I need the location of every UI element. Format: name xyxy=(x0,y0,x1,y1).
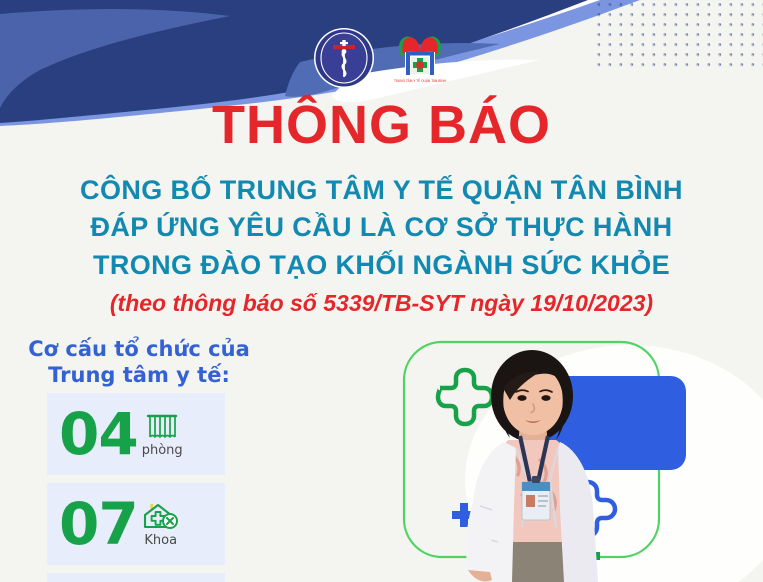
stat-card: 07 Khoa xyxy=(47,483,225,565)
stat-card: 04 phòng xyxy=(47,393,225,475)
reference-note: (theo thông báo số 5339/TB-SYT ngày 19/1… xyxy=(0,291,763,316)
logo-row: TRUNG TÂM Y TẾ QUẬN TÂN BÌNH xyxy=(0,27,763,89)
org-structure-label-line-1: Cơ cấu tổ chức của xyxy=(8,336,270,362)
subtitle-line-1: CÔNG BỐ TRUNG TÂM Y TẾ QUẬN TÂN BÌNH xyxy=(0,172,763,209)
svg-text:TRUNG TÂM Y TẾ QUẬN TÂN BÌNH: TRUNG TÂM Y TẾ QUẬN TÂN BÌNH xyxy=(393,77,447,83)
stat-card-label: phòng xyxy=(142,443,183,458)
clinic-house-cross-icon xyxy=(142,502,180,532)
org-structure-label-line-2: Trung tâm y tế: xyxy=(8,362,270,388)
stat-card-list: 04 phòng 07 Khoa xyxy=(47,393,225,582)
subtitle-line-3: TRONG ĐÀO TẠO KHỐI NGÀNH SỨC KHỎE xyxy=(0,247,763,284)
page-title: THÔNG BÁO xyxy=(0,98,763,152)
subtitle-block: CÔNG BỐ TRUNG TÂM Y TẾ QUẬN TÂN BÌNH ĐÁP… xyxy=(0,172,763,284)
stat-card-partial xyxy=(47,573,225,582)
hcmc-department-of-health-seal xyxy=(313,27,375,89)
doctor-photo-composition xyxy=(380,330,763,582)
announcement-poster: TRUNG TÂM Y TẾ QUẬN TÂN BÌNH THÔNG BÁO C… xyxy=(0,0,763,582)
subtitle-line-2: ĐÁP ỨNG YÊU CẦU LÀ CƠ SỞ THỰC HÀNH xyxy=(0,209,763,246)
hospital-curtain-icon xyxy=(145,412,179,442)
stat-card-label: Khoa xyxy=(144,533,177,548)
stat-card-number: 07 xyxy=(59,495,138,553)
tan-binh-medical-center-heart-logo: TRUNG TÂM Y TẾ QUẬN TÂN BÌNH xyxy=(389,27,451,89)
org-structure-label: Cơ cấu tổ chức của Trung tâm y tế: xyxy=(8,336,270,388)
stat-card-number: 04 xyxy=(59,405,138,463)
